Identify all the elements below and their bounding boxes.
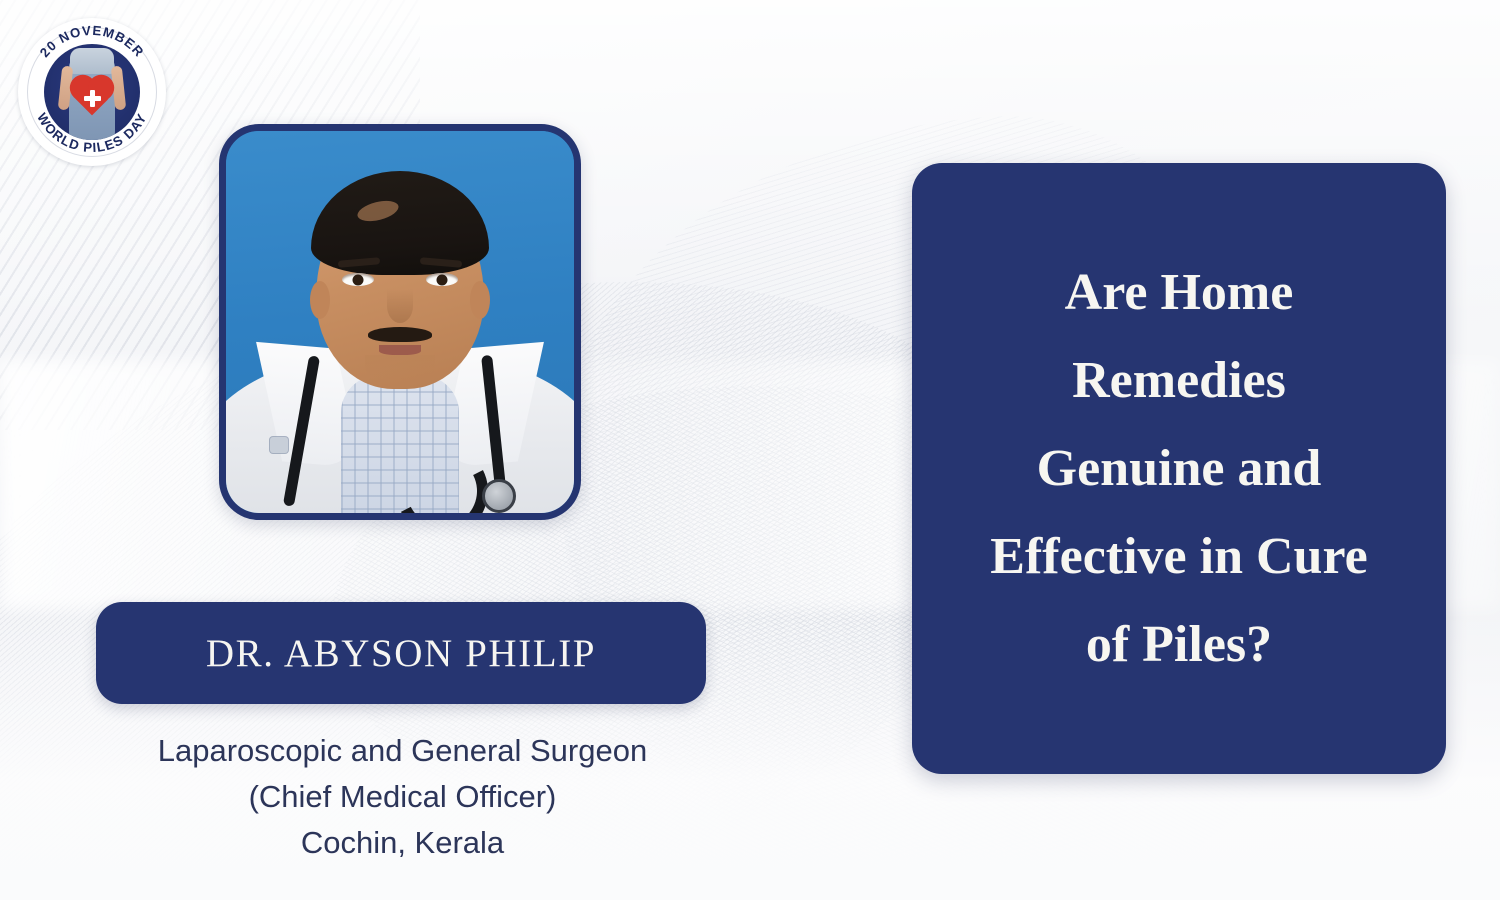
portrait-mouth (379, 345, 421, 355)
medical-cross-icon-bar (84, 96, 101, 101)
portrait-eye-right (426, 273, 458, 286)
portrait-moustache (368, 327, 432, 342)
headline-line-3: Genuine and (990, 425, 1367, 513)
svg-text:WORLD PILES DAY: WORLD PILES DAY (34, 110, 150, 155)
headline-panel: Are Home Remedies Genuine and Effective … (912, 163, 1446, 774)
doctor-name: DR. ABYSON PHILIP (206, 631, 596, 676)
poster-canvas: 20 NOVEMBER WORLD PILES DAY (0, 0, 1500, 900)
portrait-nose (387, 289, 413, 323)
portrait-ear-left (310, 281, 330, 319)
doctor-credentials: Laparoscopic and General Surgeon (Chief … (0, 728, 805, 866)
svg-text:20 NOVEMBER: 20 NOVEMBER (37, 23, 147, 60)
headline-line-4: Effective in Cure (990, 513, 1367, 601)
headline-text: Are Home Remedies Genuine and Effective … (964, 249, 1393, 689)
doctor-portrait (219, 124, 581, 520)
portrait-coat-badge (270, 437, 288, 453)
credentials-line-location: Cochin, Kerala (0, 820, 805, 866)
credentials-line-role: (Chief Medical Officer) (0, 774, 805, 820)
logo-top-text: 20 NOVEMBER (37, 23, 147, 60)
world-piles-day-logo: 20 NOVEMBER WORLD PILES DAY (18, 18, 166, 166)
headline-line-2: Remedies (990, 337, 1367, 425)
credentials-line-specialty: Laparoscopic and General Surgeon (0, 728, 805, 774)
headline-line-5: of Piles? (990, 601, 1367, 689)
portrait-ear-right (470, 281, 490, 319)
headline-line-1: Are Home (990, 249, 1367, 337)
portrait-chin (365, 355, 435, 381)
doctor-name-banner: DR. ABYSON PHILIP (96, 602, 706, 704)
logo-bottom-text: WORLD PILES DAY (34, 110, 150, 155)
portrait-eye-left (342, 273, 374, 286)
stethoscope-bell-icon (482, 479, 516, 513)
